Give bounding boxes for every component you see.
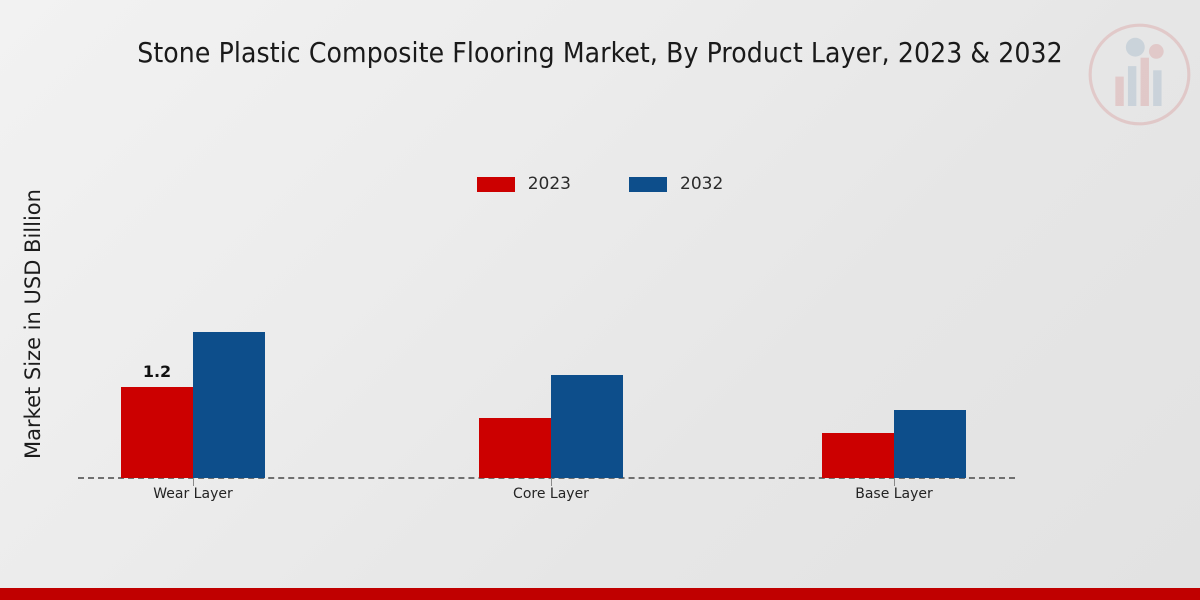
bar-base-layer-2023[interactable] (822, 433, 894, 478)
bar-wear-layer-2023[interactable]: 1.2 (121, 387, 193, 478)
bar-value-label: 1.2 (143, 362, 171, 381)
x-axis-tick (551, 478, 552, 486)
bar-wear-layer-2032[interactable] (193, 332, 265, 478)
bar-group (479, 138, 623, 478)
bottom-accent-band (0, 588, 1200, 600)
x-axis-tick (193, 478, 194, 486)
bar-group: 1.2 (121, 138, 265, 478)
x-axis-label-base-layer: Base Layer (855, 486, 933, 502)
bar-group (822, 138, 966, 478)
bar-base-layer-2032[interactable] (894, 410, 966, 478)
chart-page: Stone Plastic Composite Flooring Market,… (0, 0, 1200, 600)
plot-area: 1.2 Wear LayerCore LayerBase Layer (0, 0, 1200, 600)
x-axis-label-wear-layer: Wear Layer (153, 486, 232, 502)
bar-core-layer-2023[interactable] (479, 418, 551, 478)
x-axis-label-core-layer: Core Layer (513, 486, 589, 502)
x-axis-tick (894, 478, 895, 486)
bar-core-layer-2032[interactable] (551, 375, 623, 478)
